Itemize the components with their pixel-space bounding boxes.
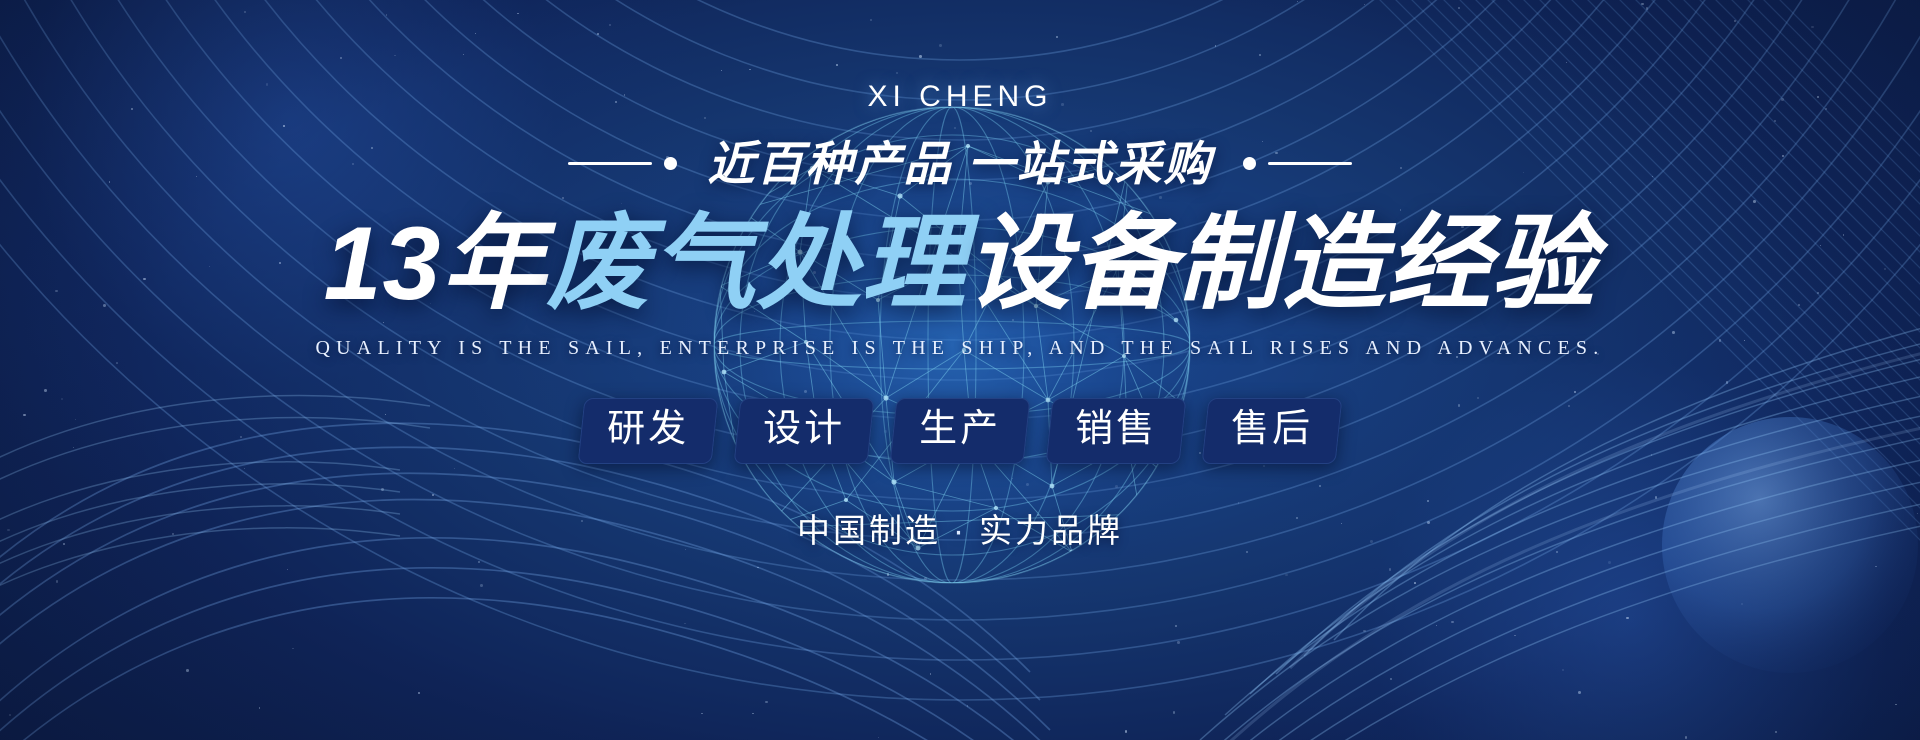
english-tagline: QUALITY IS THE SAIL, ENTERPRISE IS THE S… bbox=[316, 337, 1605, 360]
badge-after-sales[interactable]: 售后 bbox=[1202, 398, 1343, 464]
headline-years: 13年 bbox=[324, 206, 547, 322]
footer-slogan: 中国制造·实力品牌 bbox=[797, 504, 1123, 552]
footer-slogan-right: 实力品牌 bbox=[979, 512, 1123, 549]
left-rule-dot bbox=[664, 157, 677, 170]
left-rule-bar bbox=[568, 162, 652, 165]
subtitle-text: 近百种产品 一站式采购 bbox=[707, 140, 1212, 187]
badge-sales[interactable]: 销售 bbox=[1046, 398, 1187, 464]
brand-latin-name: XI CHENG bbox=[867, 82, 1052, 112]
capability-badge-list: 研发 设计 生产 销售 售后 bbox=[581, 398, 1339, 464]
hero-banner: XI CHENG 近百种产品 一站式采购 13年废气处理设备制造经验 QUALI… bbox=[0, 0, 1920, 740]
badge-design-label: 设计 bbox=[763, 407, 845, 452]
subtitle-row: 近百种产品 一站式采购 bbox=[568, 140, 1351, 187]
headline: 13年废气处理设备制造经验 bbox=[324, 209, 1597, 319]
footer-slogan-separator: · bbox=[941, 512, 979, 549]
badge-production[interactable]: 生产 bbox=[890, 398, 1031, 464]
right-rule-dot bbox=[1243, 157, 1256, 170]
headline-highlight: 废气处理 bbox=[546, 206, 966, 322]
badge-design[interactable]: 设计 bbox=[734, 398, 875, 464]
left-rule-decoration bbox=[568, 157, 677, 170]
right-rule-bar bbox=[1268, 162, 1352, 165]
badge-after-sales-label: 售后 bbox=[1231, 407, 1313, 452]
badge-rd[interactable]: 研发 bbox=[577, 398, 718, 464]
badge-rd-label: 研发 bbox=[607, 407, 689, 452]
badge-production-label: 生产 bbox=[919, 407, 1001, 452]
footer-slogan-left: 中国制造 bbox=[797, 512, 941, 549]
headline-tail: 设备制造经验 bbox=[966, 206, 1596, 322]
right-rule-decoration bbox=[1243, 157, 1352, 170]
badge-sales-label: 销售 bbox=[1075, 407, 1157, 452]
